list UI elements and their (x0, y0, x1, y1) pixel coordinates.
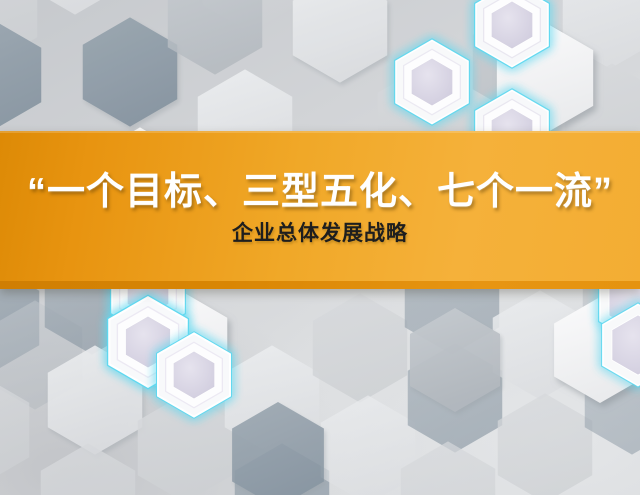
banner-bottom-strip (0, 281, 640, 289)
title-banner: “一个目标、三型五化、七个一流” 企业总体发展战略 (0, 131, 640, 289)
banner-content: “一个目标、三型五化、七个一流” 企业总体发展战略 (0, 131, 640, 289)
presentation-slide: “一个目标、三型五化、七个一流” 企业总体发展战略 (0, 0, 640, 495)
page-title: “一个目标、三型五化、七个一流” (27, 173, 613, 211)
page-subtitle: 企业总体发展战略 (232, 223, 408, 244)
